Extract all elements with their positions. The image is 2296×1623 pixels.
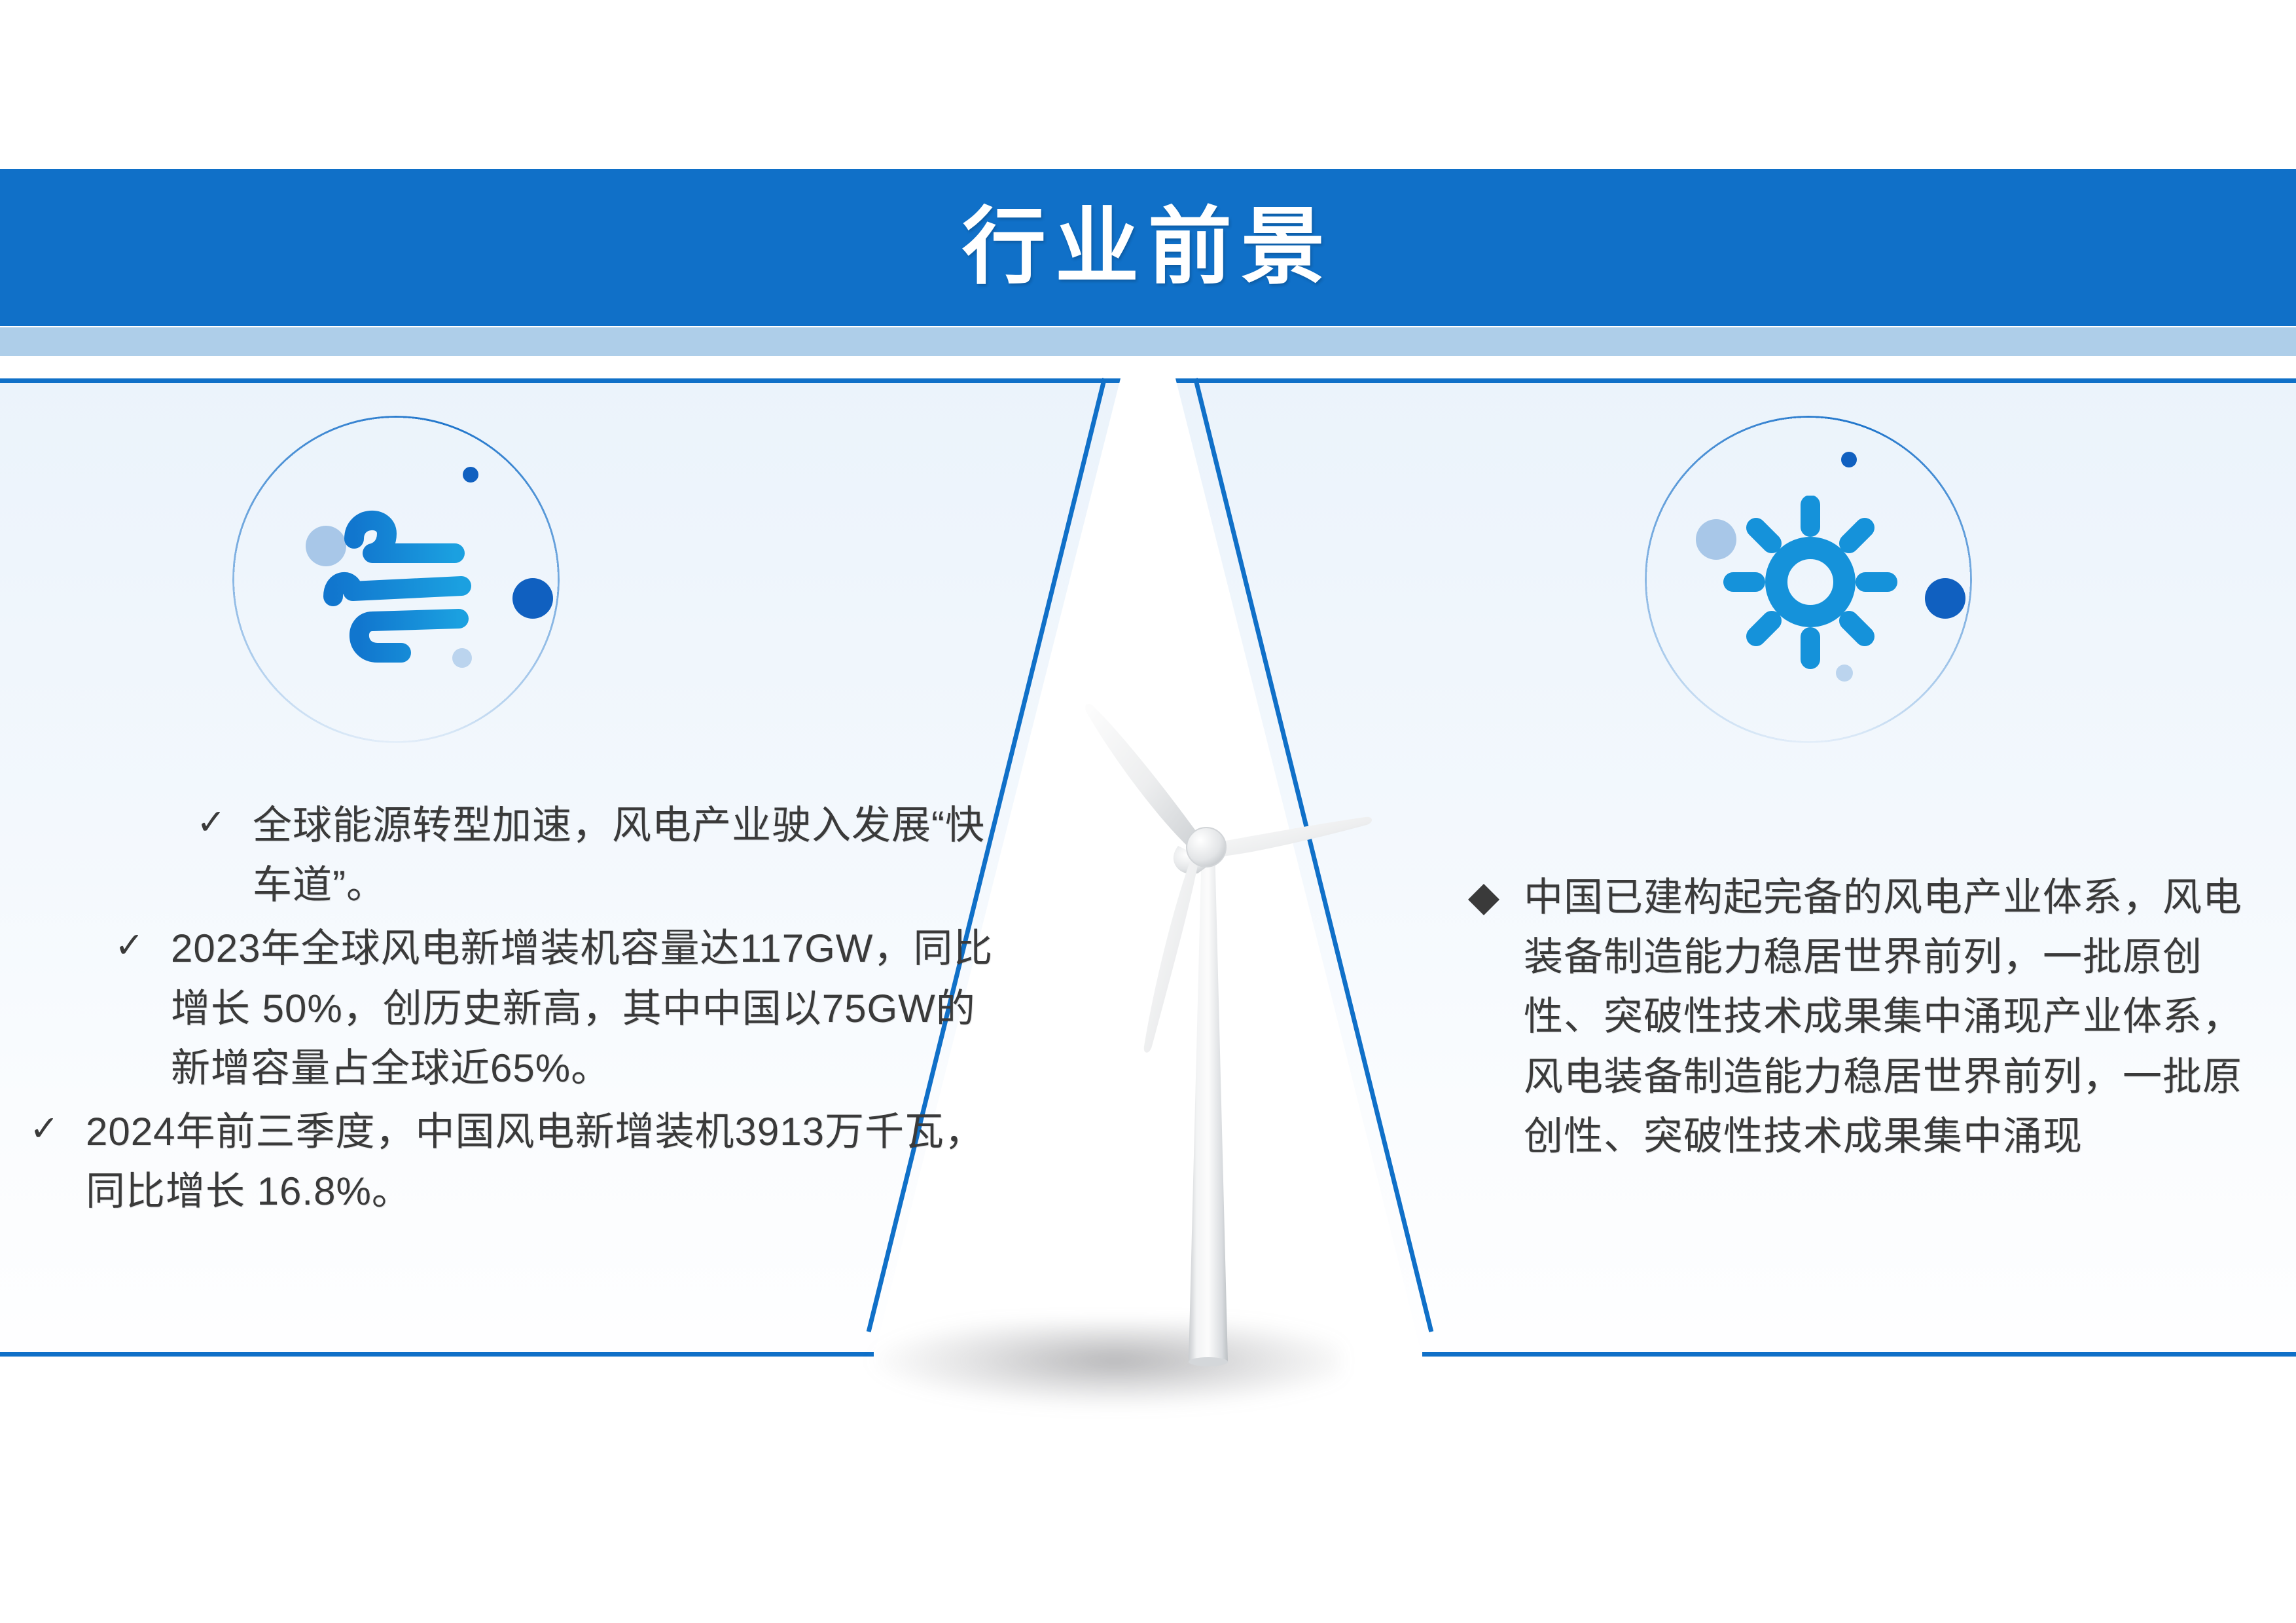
left-panel-top-border: [0, 378, 1121, 383]
banner-underline: [0, 327, 2296, 356]
wind-icon-circle: [232, 416, 560, 743]
check-icon: ✓: [115, 919, 171, 972]
list-item: 中国已建构起完备的风电产业体系，风电装备制造能力稳居世界前列，一批原创性、突破性…: [1473, 867, 2245, 1166]
decorative-dot: [1841, 452, 1857, 467]
list-item: ✓ 2024年前三季度，中国风电新增装机3913万千瓦，同比增长 16.8%。: [29, 1102, 1005, 1221]
sun-icon: [1722, 496, 1899, 669]
left-panel-bottom-border: [0, 1352, 874, 1357]
decorative-dot: [1925, 578, 1965, 619]
decorative-dot: [463, 467, 478, 483]
list-item-text: 2024年前三季度，中国风电新增装机3913万千瓦，同比增长 16.8%。: [86, 1102, 1005, 1221]
decorative-dot: [512, 578, 553, 619]
wind-turbine-illustration: [1047, 694, 1388, 1375]
list-item-text: 全球能源转型加速，风电产业驶入发展“快车道”。: [253, 795, 1005, 915]
diamond-icon: [1473, 867, 1524, 925]
right-bullet-list: 中国已建构起完备的风电产业体系，风电装备制造能力稳居世界前列，一批原创性、突破性…: [1473, 867, 2245, 1166]
right-panel-top-border: [1175, 378, 2296, 383]
right-panel-bottom-border: [1422, 1352, 2296, 1357]
wind-icon: [310, 500, 506, 670]
list-item-text: 2023年全球风电新增装机容量达117GW，同比增长 50%，创历史新高，其中中…: [171, 919, 1005, 1098]
list-item: ✓ 全球能源转型加速，风电产业驶入发展“快车道”。: [29, 795, 1005, 915]
left-bullet-list: ✓ 全球能源转型加速，风电产业驶入发展“快车道”。 ✓ 2023年全球风电新增装…: [29, 795, 1005, 1221]
check-icon: ✓: [29, 1102, 86, 1156]
list-item-text: 中国已建构起完备的风电产业体系，风电装备制造能力稳居世界前列，一批原创性、突破性…: [1524, 867, 2245, 1166]
list-item: ✓ 2023年全球风电新增装机容量达117GW，同比增长 50%，创历史新高，其…: [29, 919, 1005, 1098]
slide-root: 行业前景: [0, 0, 2296, 1623]
check-icon: ✓: [196, 795, 253, 849]
title-banner: 行业前景: [0, 169, 2296, 326]
sun-icon-circle: [1645, 416, 1972, 743]
page-title: 行业前景: [962, 206, 1334, 289]
